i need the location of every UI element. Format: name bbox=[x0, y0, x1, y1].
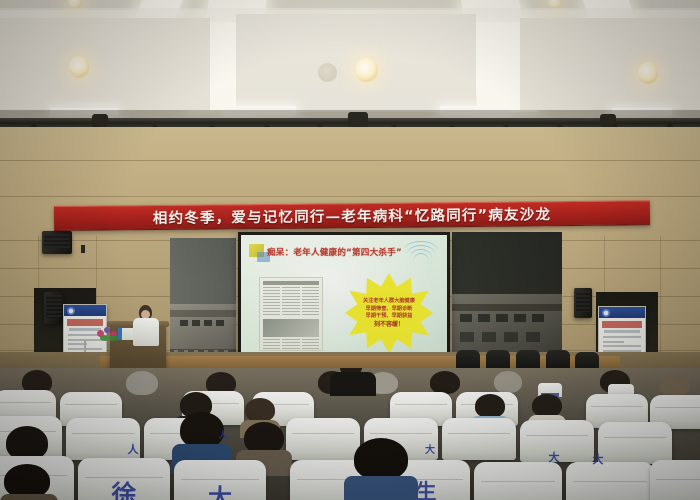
starburst-line: 早期筛查、早期诊断 bbox=[366, 306, 413, 313]
chair-cover-character: 大 bbox=[420, 446, 440, 456]
chair-cover: 徐 bbox=[78, 458, 170, 500]
stage-chair bbox=[546, 350, 570, 370]
projection-screen: 痴呆：老年人健康的“第四大杀手” 关注老年人群大脑健康 早期筛查、早期诊断 早期… bbox=[241, 235, 447, 365]
chair-cover bbox=[474, 462, 562, 500]
attendee bbox=[344, 438, 418, 500]
chair-cover-character: 大 bbox=[544, 452, 564, 463]
chair-cover bbox=[598, 422, 672, 464]
photographer bbox=[330, 368, 376, 394]
speaker-mount bbox=[81, 245, 85, 253]
starburst-line: 关注老年人群大脑健康 bbox=[363, 298, 415, 305]
arc-logo-icon bbox=[404, 241, 438, 259]
starburst-line: 刻不容缓！ bbox=[374, 321, 404, 329]
ceiling bbox=[0, 0, 700, 118]
stage-chair bbox=[516, 350, 540, 370]
chair-cover-character: 徐 bbox=[78, 482, 170, 500]
chair-cover bbox=[566, 462, 654, 500]
chair-cover-character: 大 bbox=[174, 486, 266, 500]
attendee bbox=[494, 371, 522, 394]
presenting-doctor bbox=[133, 305, 159, 345]
attendee bbox=[0, 464, 58, 500]
starburst-line: 早期干预、早期获益 bbox=[366, 313, 413, 320]
projection-screen-frame: 痴呆：老年人健康的“第四大杀手” 关注老年人群大脑健康 早期筛查、早期诊断 早期… bbox=[238, 232, 450, 368]
chair-cover bbox=[650, 460, 700, 500]
attendee bbox=[126, 371, 158, 397]
audience-seating: 绘 徐 大 生 人 大 大 大 人 bbox=[0, 368, 700, 500]
wall-speaker bbox=[42, 231, 72, 254]
flower-arrangement bbox=[95, 326, 121, 342]
stage-chair bbox=[486, 350, 510, 370]
chair-cover-character: 人 bbox=[122, 444, 144, 455]
slide-title: 痴呆：老年人健康的“第四大杀手” bbox=[267, 246, 402, 258]
auditorium-photo: 相约冬季，爱与记忆同行—老年病科“忆路同行”病友沙龙 痴呆：老年人健康的“第四大… bbox=[0, 0, 700, 500]
wall-speaker bbox=[44, 292, 64, 324]
chair-cover-character: 大 bbox=[588, 454, 608, 465]
hospital-building-mural bbox=[170, 238, 236, 370]
newspaper-clipping bbox=[259, 277, 323, 351]
chair-cover: 大 bbox=[174, 460, 266, 500]
wall-speaker bbox=[574, 288, 592, 318]
banner-text: 相约冬季，爱与记忆同行—老年病科“忆路同行”病友沙龙 bbox=[153, 203, 551, 228]
stage-chair bbox=[456, 350, 480, 370]
chair-cover bbox=[442, 418, 516, 460]
chair-cover-character: 人 bbox=[214, 432, 232, 441]
truss-node bbox=[348, 112, 368, 128]
